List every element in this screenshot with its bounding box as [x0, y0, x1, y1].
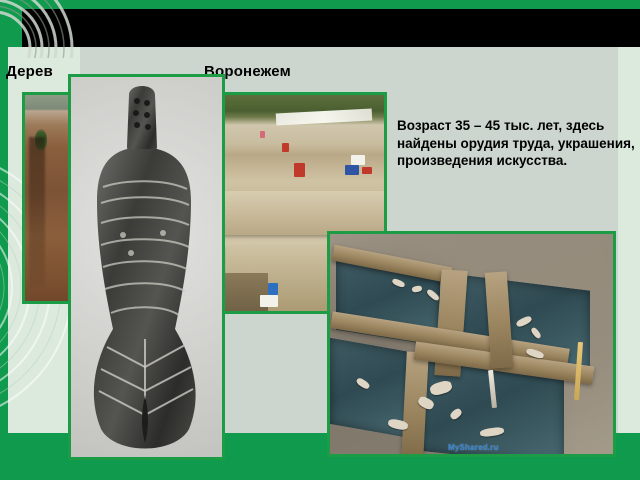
page-title-left: Дерев [6, 63, 53, 80]
watermark-label: MyShared.ru [448, 443, 499, 452]
right-mint-strip [618, 47, 640, 433]
photo-figurine-image [71, 77, 222, 457]
photo-excavation-grid: MyShared.ru [327, 231, 616, 457]
slide: ДеревВоронежем Возраст 35 – 45 тыс. лет,… [0, 0, 640, 480]
top-black-band [22, 9, 640, 47]
photo-trench-image [25, 95, 71, 301]
photo-trench [22, 92, 74, 304]
photo-figurine [68, 74, 225, 460]
photo-excavation-grid-image [330, 234, 613, 454]
body-paragraph: Возраст 35 – 45 тыс. лет, здесь найдены … [397, 117, 640, 170]
